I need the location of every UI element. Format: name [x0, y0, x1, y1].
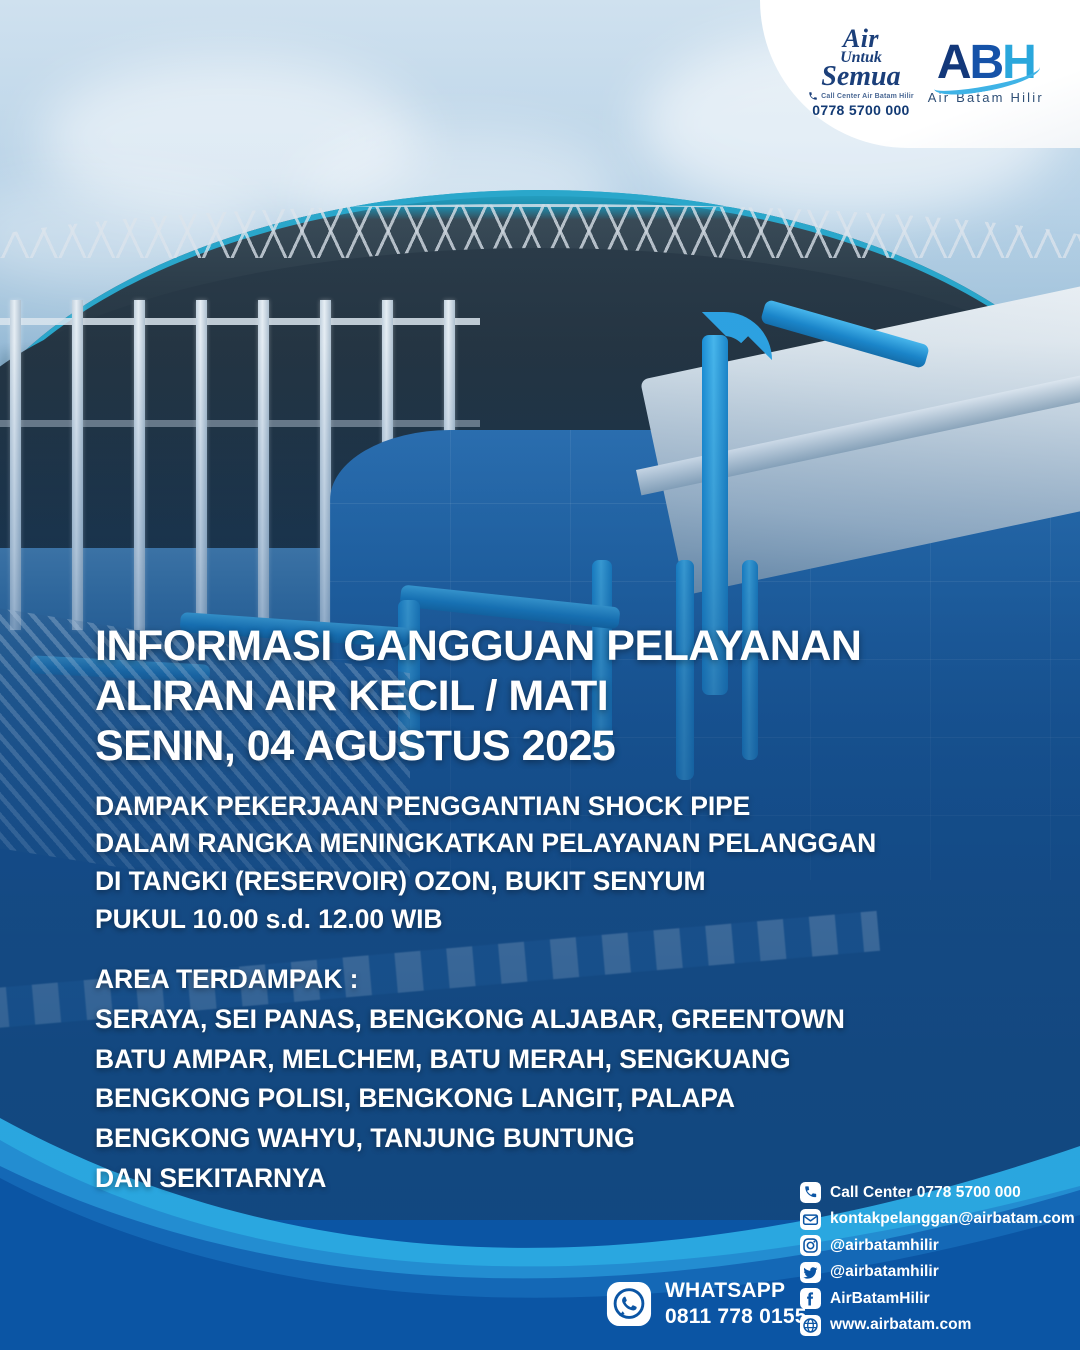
- contact-row-website[interactable]: www.airbatam.com: [800, 1315, 1075, 1336]
- logo-call-center-label: Call Center Air Batam Hilir: [821, 93, 914, 100]
- phone-icon: [800, 1182, 821, 1203]
- abh-letter-h: H: [1002, 36, 1035, 89]
- contact-text: kontakpelanggan@airbatam.com: [830, 1210, 1075, 1228]
- affected-area-line: SERAYA, SEI PANAS, BENGKONG ALJABAR, GRE…: [95, 1000, 1025, 1040]
- poster-canvas: Air Untuk Semua Call Center Air Batam Hi…: [0, 0, 1080, 1350]
- whatsapp-contact[interactable]: WHATSAPP 0811 778 0155: [606, 1278, 807, 1329]
- detail-line-3: DI TANGKI (RESERVOIR) OZON, BUKIT SENYUM: [95, 863, 1025, 901]
- affected-areas: AREA TERDAMPAK : SERAYA, SEI PANAS, BENG…: [95, 960, 1025, 1199]
- logo-word-air: Air: [808, 26, 914, 52]
- affected-area-line: BATU AMPAR, MELCHEM, BATU MERAH, SENGKUA…: [95, 1040, 1025, 1080]
- page-title: INFORMASI GANGGUAN PELAYANAN ALIRAN AIR …: [95, 622, 1025, 772]
- contact-text: Call Center 0778 5700 000: [830, 1184, 1021, 1202]
- contact-row-email[interactable]: kontakpelanggan@airbatam.com: [800, 1209, 1075, 1230]
- headline-line-1: INFORMASI GANGGUAN PELAYANAN: [95, 622, 1025, 672]
- headline-line-3: SENIN, 04 AGUSTUS 2025: [95, 722, 1025, 772]
- detail-line-1: DAMPAK PEKERJAAN PENGGANTIAN SHOCK PIPE: [95, 788, 1025, 826]
- logo-call-center-number: 0778 5700 000: [808, 103, 914, 117]
- whatsapp-icon: [606, 1281, 652, 1327]
- contact-row-twitter[interactable]: @airbatamhilir: [800, 1262, 1075, 1283]
- envelope-icon: [800, 1209, 821, 1230]
- contact-text: AirBatamHilir: [830, 1290, 930, 1308]
- globe-icon: [800, 1315, 821, 1336]
- contact-text: www.airbatam.com: [830, 1316, 972, 1334]
- affected-area-line: BENGKONG POLISI, BENGKONG LANGIT, PALAPA: [95, 1079, 1025, 1119]
- poster-copy: INFORMASI GANGGUAN PELAYANAN ALIRAN AIR …: [95, 622, 1025, 1199]
- headline-line-2: ALIRAN AIR KECIL / MATI: [95, 672, 1025, 722]
- affected-area-line: BENGKONG WAHYU, TANJUNG BUNTUNG: [95, 1119, 1025, 1159]
- phone-icon: [808, 91, 818, 101]
- work-details: DAMPAK PEKERJAAN PENGGANTIAN SHOCK PIPE …: [95, 788, 1025, 939]
- whatsapp-label: WHATSAPP: [665, 1278, 807, 1304]
- whatsapp-text: WHATSAPP 0811 778 0155: [665, 1278, 807, 1329]
- instagram-icon: [800, 1235, 821, 1256]
- abh-monogram: ABH: [937, 39, 1035, 87]
- contact-row-instagram[interactable]: @airbatamhilir: [800, 1235, 1075, 1256]
- contact-list: Call Center 0778 5700 000 kontakpelangga…: [800, 1182, 1075, 1341]
- contact-row-call-center[interactable]: Call Center 0778 5700 000: [800, 1182, 1075, 1203]
- abh-letter-a: A: [937, 36, 970, 89]
- abh-logo: ABH Air Batam Hilir: [928, 39, 1044, 104]
- whatsapp-number: 0811 778 0155: [665, 1304, 807, 1330]
- detail-line-4: PUKUL 10.00 s.d. 12.00 WIB: [95, 901, 1025, 939]
- abh-logo-subtitle: Air Batam Hilir: [928, 91, 1044, 104]
- facebook-icon: [800, 1288, 821, 1309]
- contact-row-facebook[interactable]: AirBatamHilir: [800, 1288, 1075, 1309]
- detail-line-2: DALAM RANGKA MENINGKATKAN PELAYANAN PELA…: [95, 825, 1025, 863]
- contact-text: @airbatamhilir: [830, 1237, 939, 1255]
- abh-letter-b: B: [970, 36, 1003, 89]
- contact-text: @airbatamhilir: [830, 1263, 939, 1281]
- twitter-icon: [800, 1262, 821, 1283]
- logo-word-semua: Semua: [808, 63, 914, 91]
- air-untuk-semua-logo: Air Untuk Semua Call Center Air Batam Hi…: [808, 26, 914, 117]
- affected-areas-heading: AREA TERDAMPAK :: [95, 960, 1025, 1000]
